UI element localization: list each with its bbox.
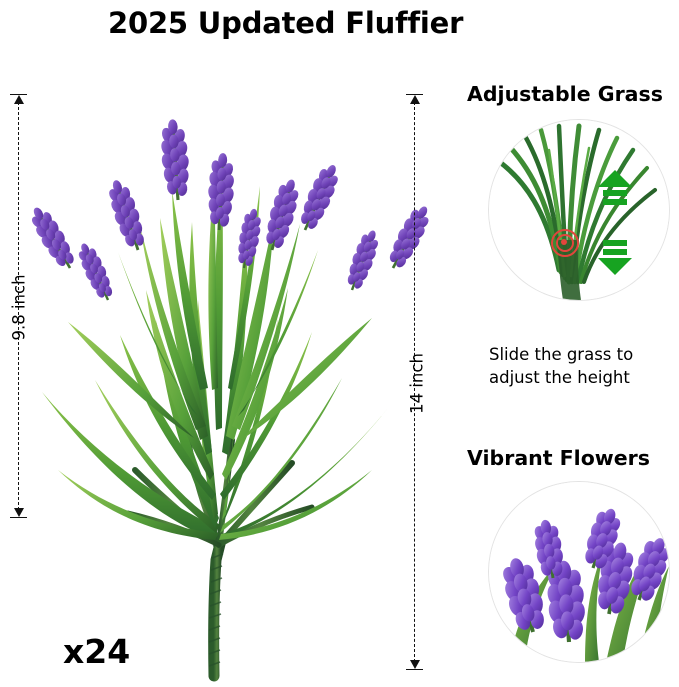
vibrant-flowers-photo [489, 482, 669, 662]
panel-heading-adjustable-grass: Adjustable Grass [467, 82, 663, 106]
total-height-label: 14 inch [408, 344, 427, 424]
grass-closeup-illustration [489, 120, 669, 300]
down-arrow-bar [603, 240, 627, 246]
up-arrow-bar [603, 199, 627, 205]
ruler-cap-bottom [406, 669, 423, 670]
ruler-arrow-down [410, 660, 420, 669]
up-arrow-bar [603, 190, 627, 196]
down-arrow-head [598, 258, 632, 275]
down-arrow-bar [603, 249, 627, 255]
ruler-arrow-down [14, 508, 24, 517]
ruler-cap-bottom [10, 517, 27, 518]
up-arrow-head [598, 170, 632, 187]
adjustable-grass-photo [489, 120, 669, 300]
flowers-closeup-illustration [489, 482, 669, 662]
panel-heading-vibrant-flowers: Vibrant Flowers [467, 446, 650, 470]
product-infographic: 2025 Updated Fluffier [0, 0, 679, 687]
adjustable-grass-caption-line1: Slide the grass to [489, 343, 633, 366]
target-icon [551, 229, 577, 255]
flower-height-label: 9.8 inch [10, 268, 29, 348]
down-arrow-icon [598, 240, 632, 275]
up-arrow-icon [598, 170, 632, 205]
quantity-badge: x24 [63, 632, 130, 671]
target-dot [561, 239, 567, 245]
adjustable-grass-caption-line2: adjust the height [489, 366, 630, 389]
